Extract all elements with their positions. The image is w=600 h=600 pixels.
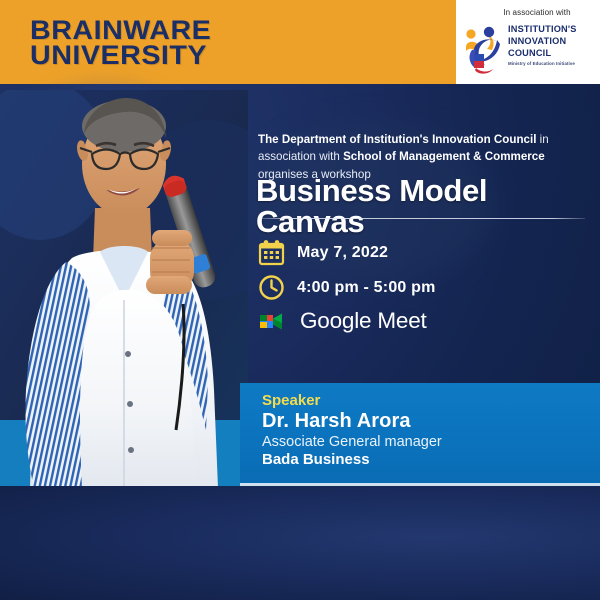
poster-header: BRAINWARE UNIVERSITY In association with… <box>0 0 600 84</box>
association-label: In association with <box>478 8 596 17</box>
iic-subtitle: Ministry of Education Initiative <box>508 61 577 66</box>
iic-emblem-icon <box>462 20 508 76</box>
clock-icon <box>258 274 285 301</box>
speaker-name: Dr. Harsh Arora <box>262 410 411 433</box>
platform-word-google: Google <box>300 308 371 334</box>
google-meet-icon <box>258 309 288 334</box>
brainware-university-logo: BRAINWARE UNIVERSITY <box>30 18 211 68</box>
platform-name: Google Meet <box>300 308 427 334</box>
event-date-row: May 7, 2022 <box>258 239 388 266</box>
event-time: 4:00 pm - 5:00 pm <box>297 279 436 297</box>
speaker-role: Associate General manager <box>262 434 442 450</box>
page-title: Business Model Canvas <box>256 176 598 237</box>
intro-department: The Department of Institution's Innovati… <box>258 133 536 146</box>
calendar-icon <box>258 239 285 266</box>
event-platform-row: Google Meet <box>258 308 427 334</box>
event-poster: BRAINWARE UNIVERSITY In association with… <box>0 0 600 600</box>
iic-name-line2: INNOVATION <box>508 36 577 48</box>
speaker-organisation: Bada Business <box>262 451 370 468</box>
poster-footer: Registration Link Session Coordinators D… <box>0 486 600 600</box>
event-time-row: 4:00 pm - 5:00 pm <box>258 274 436 301</box>
platform-word-meet: Meet <box>377 308 426 334</box>
speaker-label: Speaker <box>262 392 320 409</box>
event-date: May 7, 2022 <box>297 244 388 262</box>
iic-name-line1: INSTITUTION'S <box>508 24 577 36</box>
title-divider <box>258 218 585 219</box>
iic-name-line3: COUNCIL <box>508 48 577 60</box>
iic-logo-panel: In association with INSTITUTION'S INNOVA… <box>456 0 600 84</box>
iic-name: INSTITUTION'S INNOVATION COUNCIL Ministr… <box>508 24 577 67</box>
speaker-panel: Speaker Dr. Harsh Arora Associate Genera… <box>240 383 600 483</box>
university-name-line2: UNIVERSITY <box>30 43 211 68</box>
speaker-photo <box>0 90 248 488</box>
intro-school: School of Management & Commerce <box>343 150 545 163</box>
